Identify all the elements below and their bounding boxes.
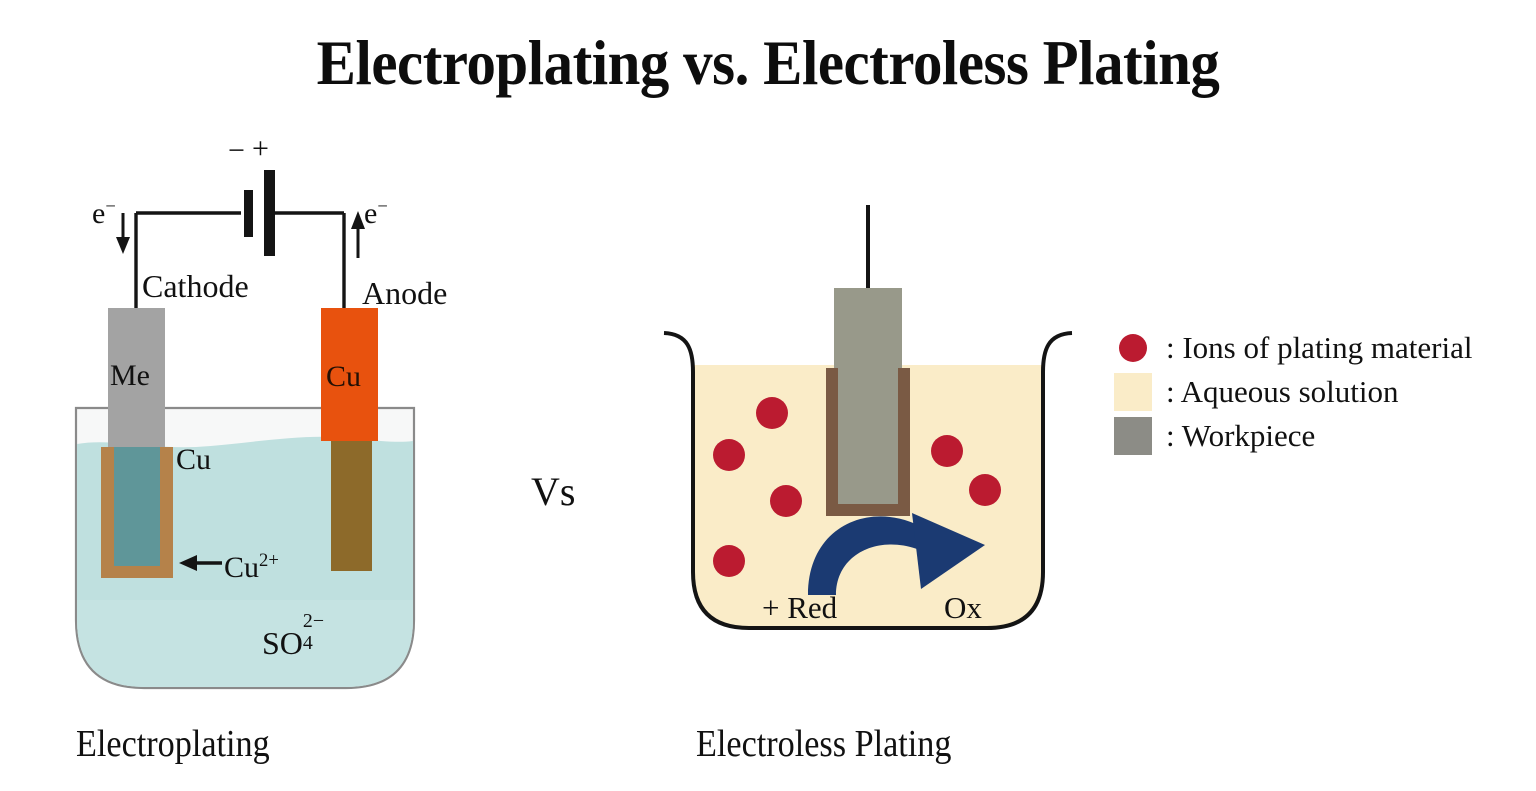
sulfate-ion-label: SO2−4 [262,622,326,659]
redox-arrow-head [912,513,985,589]
legend-swatch-ions [1112,334,1154,362]
anode-electrode-submerged [331,441,372,571]
diagram-canvas: Electroplating vs. Electroless Plating [0,0,1536,791]
copper-deposit-label: Cu [176,445,211,475]
workpiece-upper [834,288,902,372]
legend-label-workpiece: : Workpiece [1166,418,1315,454]
battery-positive-plate [264,170,275,256]
right-caption: Electroless Plating [696,722,952,766]
left-beaker-outline [76,408,414,688]
cathode-material-label: Me [110,361,150,391]
plating-ion [713,545,745,577]
vs-label: Vs [531,472,575,512]
sulfate-subscript: 4 [303,634,313,654]
right-beaker-outline [664,333,1072,628]
workpiece-plating-border [826,368,910,516]
sulfate-charge-stack: 2−4 [303,622,326,654]
legend: : Ions of plating material : Aqueous sol… [1112,326,1532,458]
copper-ion-label: Cu2+ [224,552,279,583]
ion-dot-icon [1119,334,1147,362]
solution-square-icon [1114,373,1152,411]
plating-ion [713,439,745,471]
legend-swatch-workpiece [1112,417,1154,455]
battery-positive-label: + [252,134,269,164]
legend-swatch-solution [1112,373,1154,411]
legend-label-ions: : Ions of plating material [1166,330,1472,366]
left-caption: Electroplating [76,722,270,766]
electron-label-right: e− [364,198,388,229]
legend-item-workpiece: : Workpiece [1112,414,1532,458]
electron-arrow-left-head [116,237,130,254]
electron-label-left: e− [92,198,116,229]
oxidation-label: Ox [944,592,982,623]
workpiece-submerged-core [838,368,898,504]
battery-negative-label: − [228,136,245,166]
page-title: Electroplating vs. Electroless Plating [61,26,1474,100]
plating-ion [756,397,788,429]
workpiece-square-icon [1114,417,1152,455]
redox-arrow-body [808,516,952,595]
anode-label: Anode [362,277,447,309]
electron-charge-left: − [105,196,116,217]
ion-migration-arrow-head [179,555,197,571]
battery-negative-plate [244,190,253,237]
electron-arrow-right-head [351,211,365,229]
plating-ion [931,435,963,467]
legend-item-ions: : Ions of plating material [1112,326,1532,370]
cathode-label: Cathode [142,270,249,302]
reduction-label: + Red [762,592,837,623]
left-solution-shade [77,600,413,687]
legend-label-solution: : Aqueous solution [1166,374,1399,410]
plating-ion [770,485,802,517]
anode-material-label: Cu [326,362,361,392]
legend-item-solution: : Aqueous solution [1112,370,1532,414]
cathode-submerged-core [114,447,160,566]
electron-charge-right: − [377,196,388,217]
cathode-copper-coating [101,447,173,578]
sulfate-superscript: 2− [303,612,324,632]
copper-ion-charge: 2+ [259,550,279,571]
right-solution-fill [693,365,1043,628]
plating-ion [969,474,1001,506]
